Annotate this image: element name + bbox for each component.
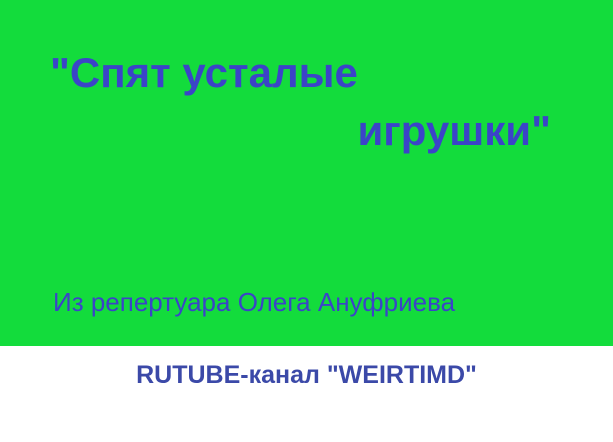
- title-line-1: "Спят усталые: [0, 44, 613, 102]
- subtitle-text: Из репертуара Олега Ануфриева: [53, 286, 455, 318]
- title-block: "Спят усталые игрушки": [0, 44, 613, 160]
- slide-canvas: "Спят усталые игрушки" Из репертуара Оле…: [0, 0, 613, 442]
- channel-credit-text: RUTUBE-канал "WEIRTIMD": [0, 359, 613, 391]
- green-title-panel: "Спят усталые игрушки" Из репертуара Оле…: [0, 0, 613, 346]
- title-line-2: игрушки": [0, 102, 613, 160]
- white-footer-band: RUTUBE-канал "WEIRTIMD": [0, 346, 613, 442]
